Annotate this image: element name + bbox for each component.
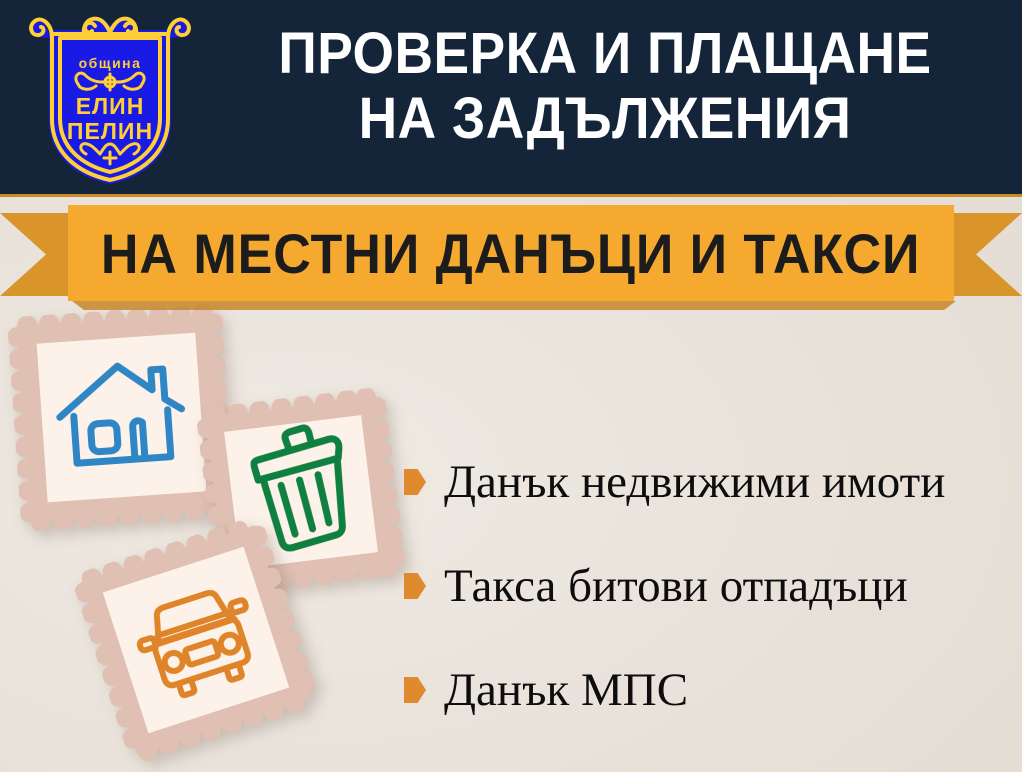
title-line-2: НА ЗАДЪЛЖЕНИЯ: [229, 87, 982, 152]
list-item[interactable]: Данък недвижими имоти: [404, 430, 1014, 534]
poster-root: община ЕЛИН ПЕЛИН: [0, 0, 1022, 772]
logo-text-elin: ЕЛИН: [76, 93, 145, 119]
ribbon-label: НА МЕСТНИ ДАНЪЦИ И ТАКСИ: [101, 221, 921, 286]
title-line-1: ПРОВЕРКА И ПЛАЩАНЕ: [229, 22, 982, 87]
tax-types-list: Данък недвижими имоти Такса битови отпад…: [404, 430, 1014, 742]
list-item-label: Данък недвижими имоти: [444, 459, 945, 506]
list-item-label: Данък МПС: [444, 667, 688, 714]
logo-text-obshtina: община: [79, 55, 142, 71]
ribbon-shadow: [72, 301, 956, 310]
municipality-logo: община ЕЛИН ПЕЛИН: [22, 8, 198, 188]
arrow-bullet-icon: [404, 677, 426, 703]
arrow-bullet-icon: [404, 573, 426, 599]
subtitle-ribbon: НА МЕСТНИ ДАНЪЦИ И ТАКСИ: [0, 205, 1022, 305]
list-item[interactable]: Данък МПС: [404, 638, 1014, 742]
ribbon-banner: НА МЕСТНИ ДАНЪЦИ И ТАКСИ: [68, 205, 954, 301]
list-item[interactable]: Такса битови отпадъци: [404, 534, 1014, 638]
coat-of-arms-icon: община ЕЛИН ПЕЛИН: [22, 8, 198, 188]
logo-text-pelin: ПЕЛИН: [67, 118, 153, 144]
header-accent-line: [0, 194, 1022, 197]
arrow-bullet-icon: [404, 469, 426, 495]
page-title: ПРОВЕРКА И ПЛАЩАНЕ НА ЗАДЪЛЖЕНИЯ: [196, 22, 1014, 152]
list-item-label: Такса битови отпадъци: [444, 563, 908, 610]
